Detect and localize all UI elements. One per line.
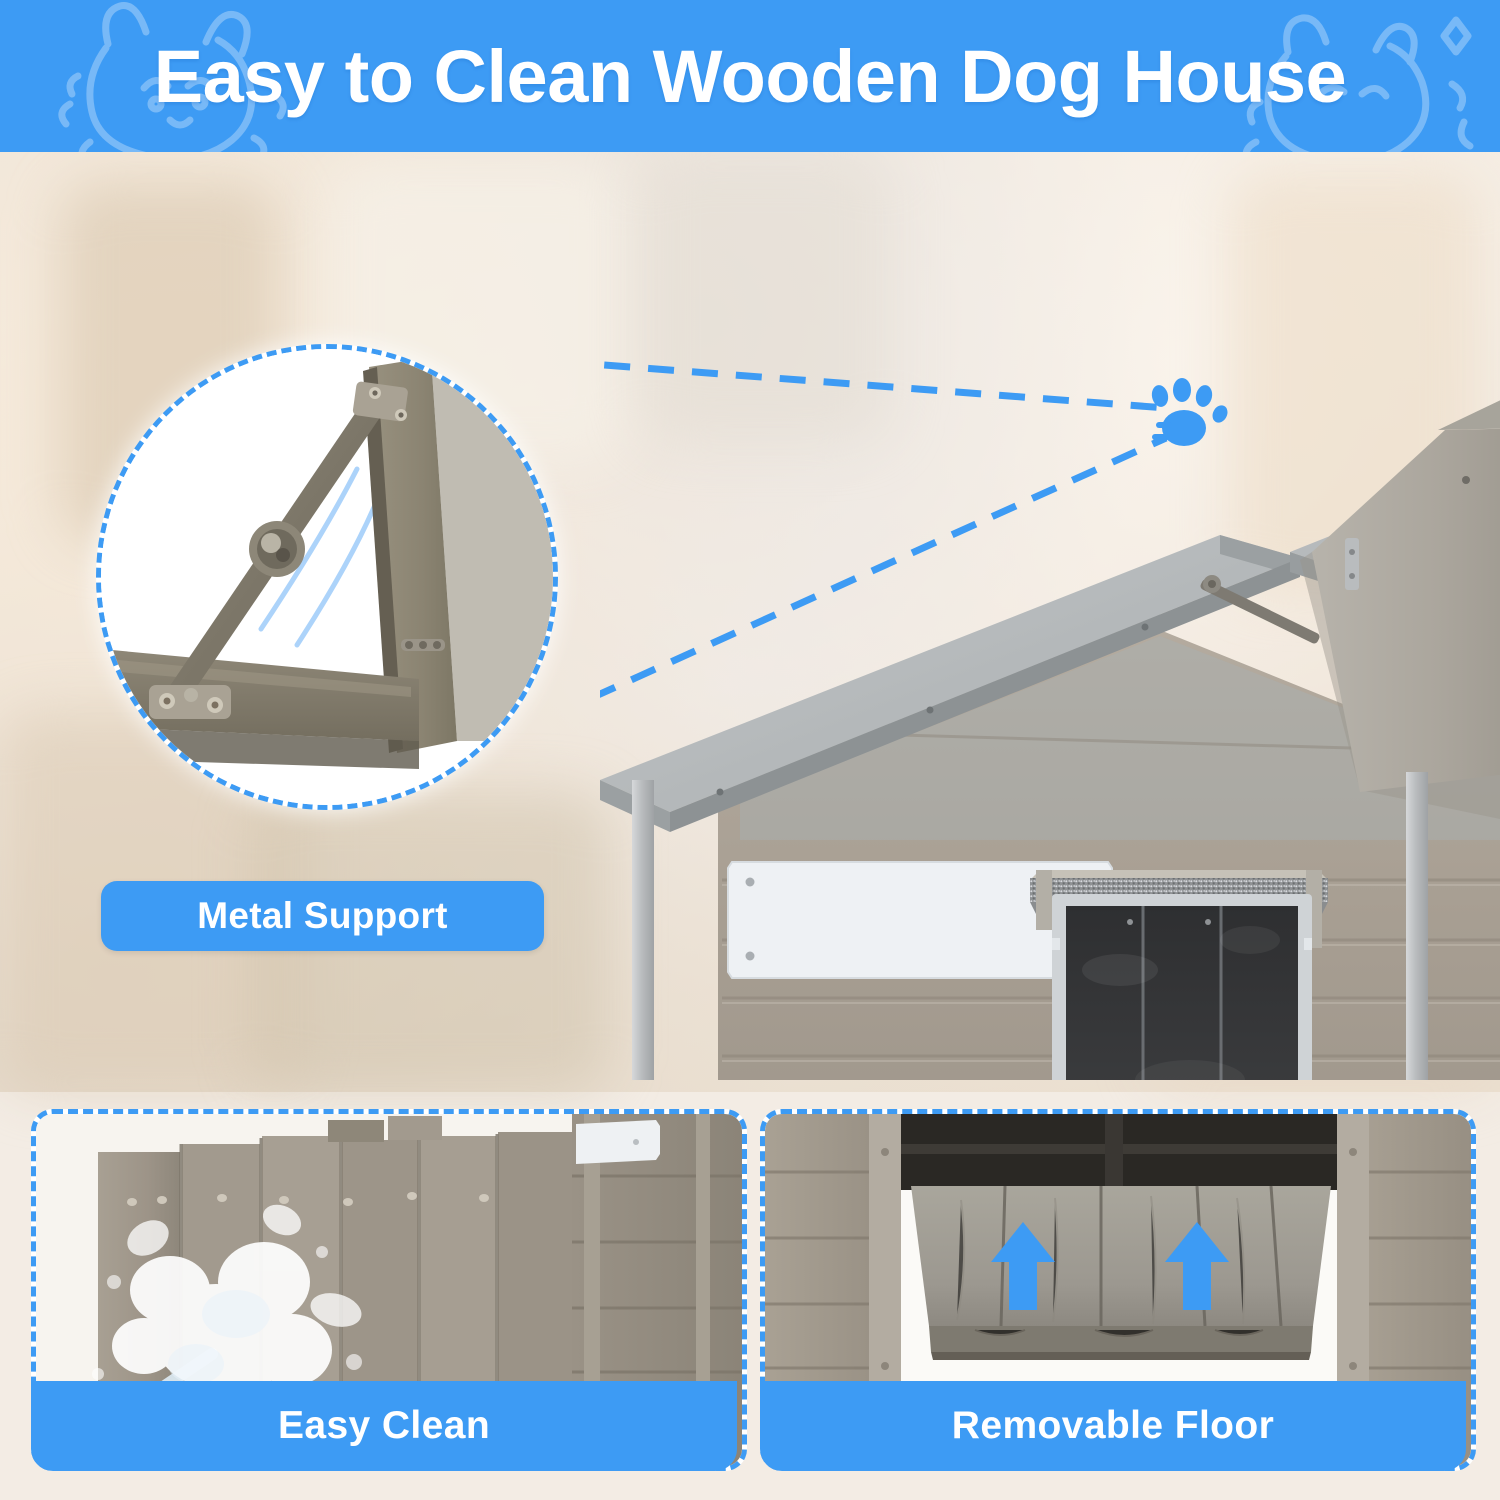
metal-support-label: Metal Support: [101, 881, 544, 951]
dog-door: [1052, 894, 1312, 1080]
removable-floor-label: Removable Floor: [760, 1381, 1466, 1471]
header-banner: Easy to Clean Wooden Dog House: [0, 0, 1500, 152]
paw-print-icon: [1150, 378, 1231, 446]
easy-clean-label: Easy Clean: [31, 1381, 737, 1471]
infographic-page: Easy to Clean Wooden Dog House: [0, 0, 1500, 1500]
dog-house-product-image: [600, 180, 1500, 1080]
metal-support-zoom-circle: [96, 344, 558, 810]
page-title: Easy to Clean Wooden Dog House: [0, 0, 1500, 152]
